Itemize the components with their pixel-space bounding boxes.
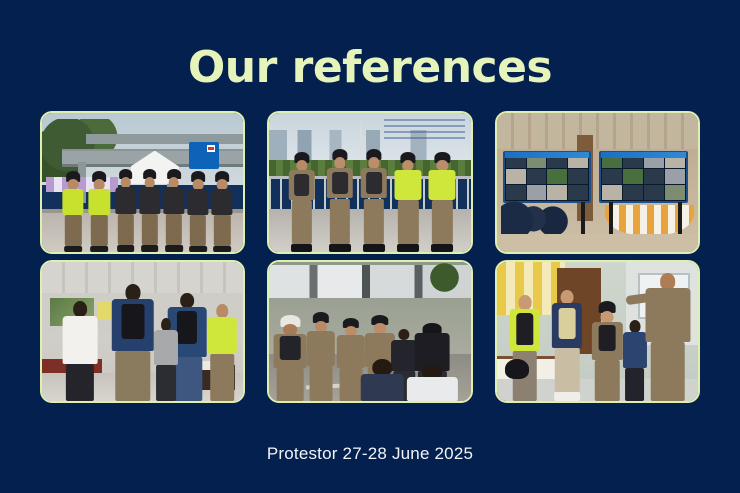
photo-tile[interactable]: Indoor demonstration where a police offi… [495,260,700,403]
helmet-on-table [505,359,529,378]
photo-officers-on-footbridge [269,113,470,252]
skywalk-upper-deck [86,134,243,144]
slide-caption: Protestor 27-28 June 2025 [0,443,740,465]
trees [418,262,470,293]
photo-gallery: Seven Thai police officers standing in a… [40,111,700,403]
officer-figure [187,171,209,252]
photo-tile[interactable]: Street scene with a dense crowd of Thai … [267,260,472,403]
person-with-camera-harness [551,290,583,401]
instructing-officer [642,273,694,401]
officer-figure [88,171,110,252]
foreground-person [360,359,404,401]
officer-figure [360,149,388,252]
officer-figure [326,149,354,252]
operators [501,199,573,235]
person-with-hivis-harness [509,295,541,401]
officer-figure-helmet [273,315,307,401]
photo-officers-under-skywalk [42,113,243,252]
person-with-backpack-unit [110,284,154,401]
officer-figure [306,312,336,401]
officer-figure [287,152,315,252]
officer-figure-hivis [394,152,422,252]
presentation-slide: Our references [0,0,740,493]
page-title: Our references [0,40,740,96]
person-grey-shirt [153,318,179,401]
person-with-camera-harness [591,301,623,401]
blue-hospital-sign [189,142,219,168]
officer-figure [163,169,185,252]
video-wall-right [599,151,688,204]
photo-street-crowd [269,262,470,401]
person-white-shirt [62,301,98,401]
officer-figure [139,169,161,252]
officer-hivis-figure [207,304,237,401]
foreground-person-white-shirt [406,365,458,401]
officer-figure [114,169,136,252]
ceiling [497,113,698,149]
photo-indoor-briefing-backpacks [42,262,243,401]
video-wall-header-bar [601,152,686,159]
officer-figure [211,171,233,252]
thai-caption-overlay [384,117,465,139]
officer-figure-hivis [428,152,456,252]
video-wall-header-bar [505,152,590,159]
photo-indoor-equipment-demo [497,262,698,401]
cross-icon [207,145,215,152]
photo-tile[interactable]: Command centre with two large video wall… [495,111,700,254]
photo-tile[interactable]: Five Thai police officers standing at at… [267,111,472,254]
floor [497,234,698,252]
photo-tile[interactable]: Indoor briefing room where men in dark b… [40,260,245,403]
officer-figure [62,171,84,252]
photo-tile[interactable]: Seven Thai police officers standing in a… [40,111,245,254]
photo-command-centre-video-wall [497,113,698,252]
video-wall-left [503,151,592,204]
